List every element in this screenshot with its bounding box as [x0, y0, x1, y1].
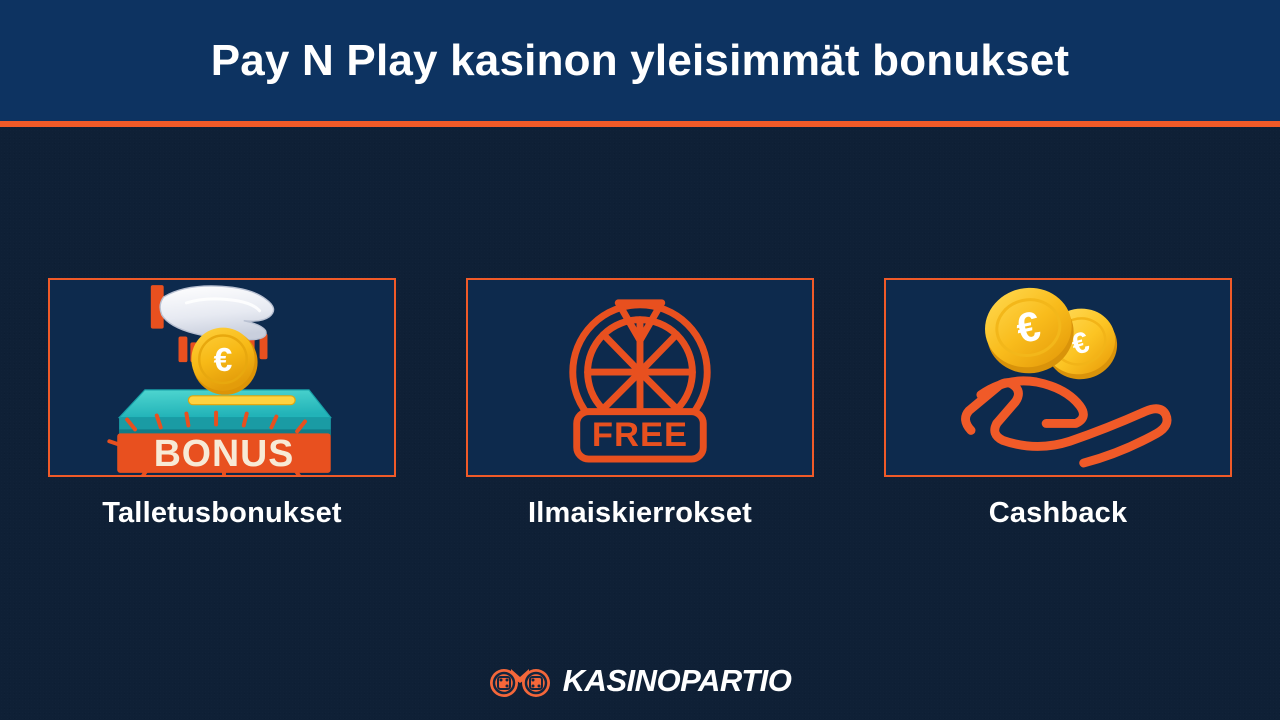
page-header: Pay N Play kasinon yleisimmät bonukset: [0, 0, 1280, 121]
free-word: FREE: [592, 416, 688, 454]
site-logo[interactable]: KASINOPARTIO: [0, 660, 1280, 702]
open-hand-with-euro-coins-icon: € €: [886, 280, 1230, 475]
open-hand-outline: [966, 381, 1168, 463]
bonus-word: BONUS: [154, 432, 295, 474]
page-title: Pay N Play kasinon yleisimmät bonukset: [211, 36, 1070, 86]
card-label-ilmaiskierrokset: Ilmaiskierrokset: [466, 497, 814, 530]
free-spins-illustration: FREE: [468, 278, 812, 477]
logo-wordmark: KASINOPARTIO: [563, 663, 792, 699]
header-accent-rule: [0, 121, 1280, 127]
infographic-page: Pay N Play kasinon yleisimmät bonukset: [0, 0, 1280, 720]
card-image-frame: €: [48, 278, 396, 477]
cashback-illustration: € €: [886, 278, 1230, 477]
card-label-talletusbonukset: Talletusbonukset: [48, 497, 396, 530]
card-label-cashback: Cashback: [884, 497, 1232, 530]
bonus-cards-row: €: [0, 278, 1280, 530]
hand-dropping-euro-coin-into-bonus-slot-icon: €: [50, 280, 394, 475]
binoculars-dice-logo-icon: [489, 660, 551, 702]
svg-text:€: €: [214, 342, 233, 379]
card-image-frame: € €: [884, 278, 1232, 477]
bonus-card-cashback[interactable]: € €: [884, 278, 1232, 530]
card-image-frame: FREE: [466, 278, 814, 477]
bonus-card-ilmaiskierrokset[interactable]: FREE Ilmaiskierrokset: [466, 278, 814, 530]
fortune-wheel-free-spins-icon: FREE: [468, 280, 812, 475]
deposit-bonus-illustration: €: [50, 278, 394, 477]
bonus-card-talletusbonukset[interactable]: €: [48, 278, 396, 530]
